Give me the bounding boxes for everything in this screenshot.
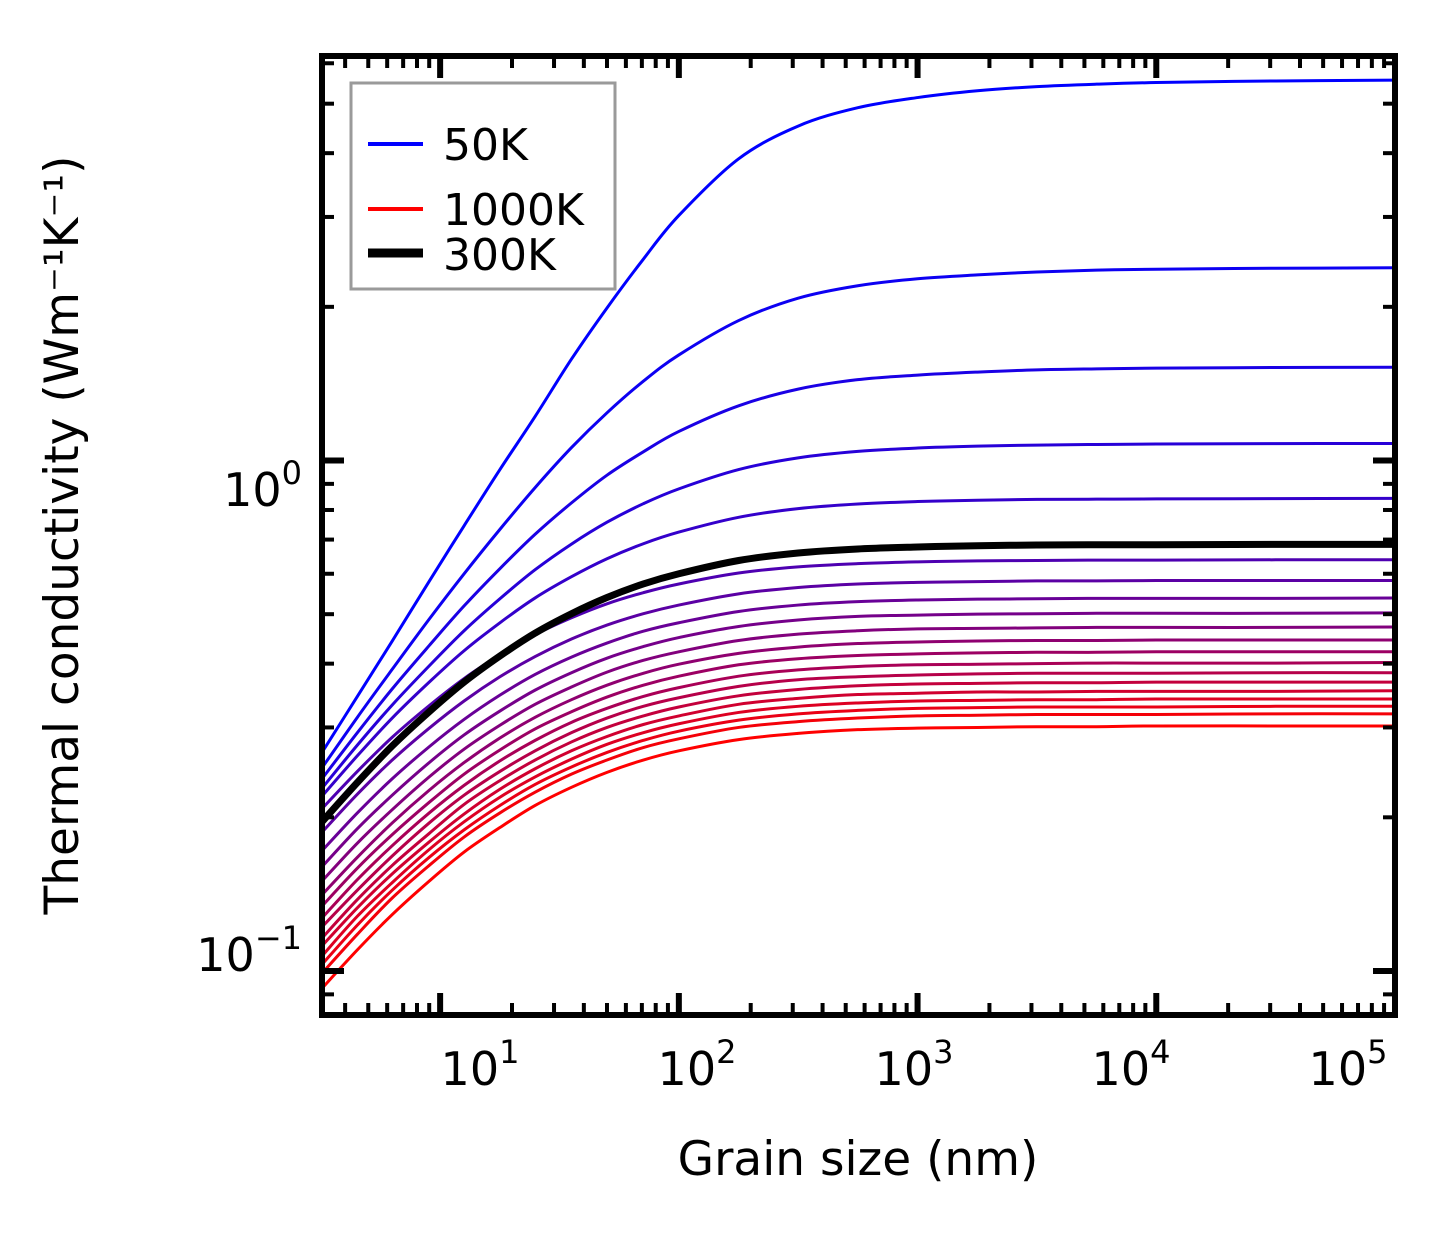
- x-tick-exp-1: 2: [716, 1033, 736, 1071]
- legend-label-300K: 300K: [443, 230, 557, 281]
- x-tick-exp-2: 3: [933, 1033, 953, 1071]
- legend: 50K 1000K 300K: [351, 83, 615, 289]
- legend-label-50K: 50K: [443, 120, 529, 171]
- thermal-conductivity-log-log-plot: 101 102 103 104 105 100 10−1 G: [0, 0, 1454, 1254]
- x-tick-exp-3: 4: [1150, 1033, 1170, 1071]
- y-axis-title: Thermal conductivity (Wm⁻¹K⁻¹): [35, 156, 90, 916]
- chart-figure: 101 102 103 104 105 100 10−1 G: [0, 0, 1454, 1254]
- x-axis-title: Grain size (nm): [678, 1132, 1039, 1187]
- y-tick-exp-0: 0: [282, 454, 302, 492]
- x-tick-exp-4: 5: [1367, 1033, 1387, 1071]
- y-tick-exp-1: −1: [255, 919, 302, 957]
- legend-label-1000K: 1000K: [443, 185, 585, 236]
- x-tick-exp-0: 1: [499, 1033, 519, 1071]
